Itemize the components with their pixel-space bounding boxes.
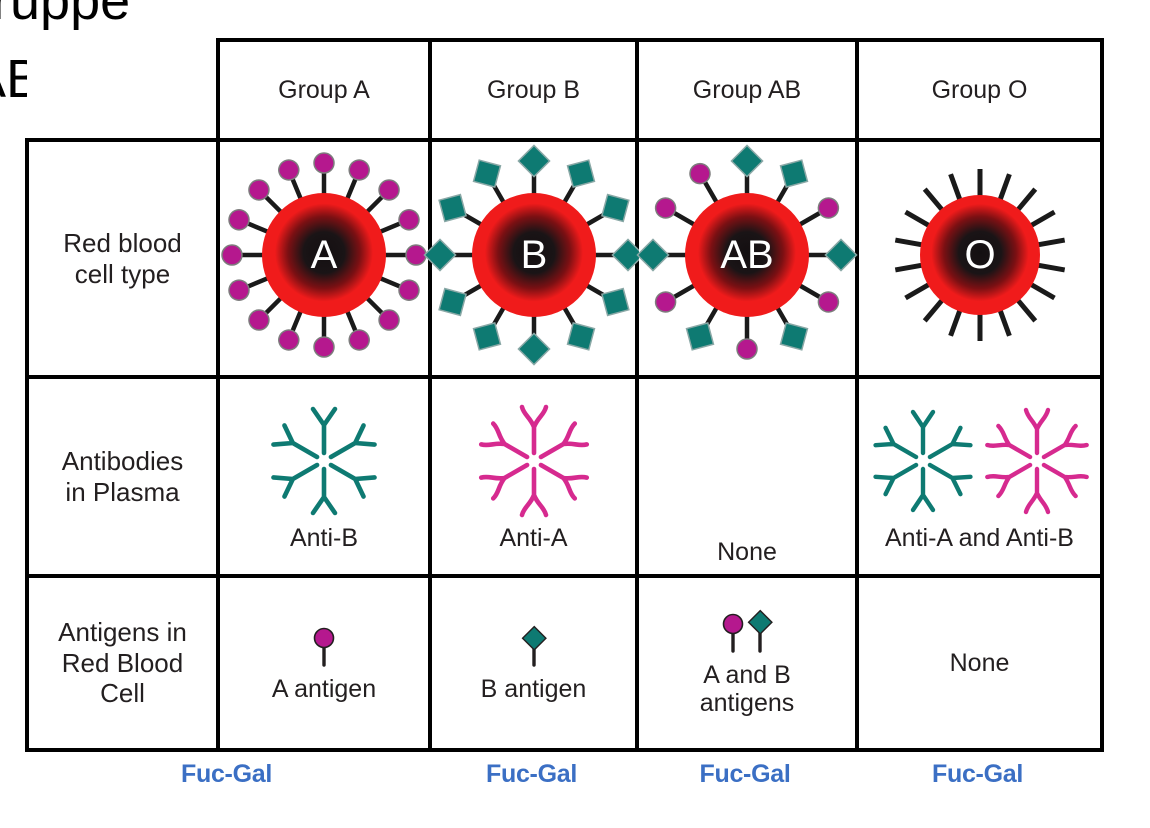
cell-letter-o: O: [964, 233, 995, 277]
red-blood-cell-o-icon: O: [885, 151, 1075, 367]
row-label-antibodies-in-plasma: Antibodies in Plasma: [27, 377, 218, 576]
column-header-group-o: Group O: [857, 40, 1102, 140]
row-label-line-2: in Plasma: [29, 477, 216, 508]
cell-letter-b: B: [520, 233, 547, 277]
cell-rbc-group-ab: AB: [637, 140, 857, 377]
column-header-group-b: Group B: [430, 40, 637, 140]
row-label-line-2: Red Blood: [29, 648, 216, 679]
antigen-caption-group-ab-line2: antigens: [700, 689, 795, 717]
column-header-group-ab: Group AB: [637, 40, 857, 140]
blood-group-table: Group A Group B Group AB Group O Red blo…: [25, 38, 1104, 752]
antibody-caption-group-b: Anti-A: [499, 524, 567, 552]
fucgal-cell-group-o: Fuc-Gal: [855, 742, 1100, 812]
column-header-group-a: Group A: [218, 40, 430, 140]
table-header-row: Group A Group B Group AB Group O: [27, 40, 1102, 140]
cell-rbc-group-o: O: [857, 140, 1102, 377]
cell-antibodies-group-o: Anti-A and Anti-B: [857, 377, 1102, 576]
antibody-cluster-magenta-icon: [987, 410, 1086, 512]
cell-antigens-group-ab: A and B antigens: [637, 576, 857, 750]
red-blood-cell-a-icon: A: [224, 151, 424, 367]
cell-rbc-group-a: A: [218, 140, 430, 377]
cell-letter-a: A: [311, 233, 338, 277]
fucgal-cell-group-b: Fuc-Gal: [428, 742, 635, 812]
page-title-cropped: gruppe: [0, 0, 130, 32]
table-row-antigens-in-red-blood-cell: Antigens in Red Blood Cell A antigen: [27, 576, 1102, 750]
antibody-cluster-magenta-icon: [469, 402, 599, 520]
fucgal-label-group-o: Fuc-Gal: [932, 760, 1023, 789]
table-corner-cell: [27, 40, 218, 140]
fucgal-label-group-b: Fuc-Gal: [486, 760, 577, 789]
antibody-cluster-pair-icon: [865, 402, 1095, 520]
antibody-caption-group-o: Anti-A and Anti-B: [885, 524, 1074, 552]
antibody-caption-group-a: Anti-B: [290, 524, 358, 552]
table-row-red-blood-cell-type: Red blood cell type: [27, 140, 1102, 377]
cell-antibodies-group-b: Anti-A: [430, 377, 637, 576]
antigen-b-diamond-icon: [509, 623, 559, 673]
row-label-red-blood-cell-type: Red blood cell type: [27, 140, 218, 377]
antigen-a-circle-icon: [299, 623, 349, 673]
red-blood-cell-ab-icon: AB: [642, 151, 852, 367]
cell-letter-ab: AB: [720, 233, 773, 277]
row-label-line-1: Antibodies: [29, 446, 216, 477]
cell-antigens-group-o: None: [857, 576, 1102, 750]
antigen-caption-group-a: A antigen: [272, 675, 376, 703]
fucgal-cell-group-a: Fuc-Gal: [25, 742, 428, 812]
fucgal-label-group-ab: Fuc-Gal: [700, 760, 791, 789]
cell-antigens-group-a: A antigen: [218, 576, 430, 750]
row-label-antigens-in-red-blood-cell: Antigens in Red Blood Cell: [27, 576, 218, 750]
antibody-caption-group-ab: None: [717, 538, 777, 567]
antigen-caption-group-ab-line1: A and B: [703, 661, 791, 689]
antigen-ab-pair-icon: [707, 609, 787, 659]
cell-antigens-group-b: B antigen: [430, 576, 637, 750]
table-row-antibodies-in-plasma: Antibodies in Plasma: [27, 377, 1102, 576]
cell-antibodies-group-a: Anti-B: [218, 377, 430, 576]
antigen-caption-group-o: None: [950, 649, 1010, 678]
row-label-line-2: cell type: [29, 259, 216, 290]
red-blood-cell-b-icon: B: [434, 151, 634, 367]
fucgal-label-group-a: Fuc-Gal: [181, 760, 272, 789]
antigen-b-diamond-icon: [749, 611, 772, 651]
fucgal-cell-group-ab: Fuc-Gal: [635, 742, 855, 812]
row-label-line-1: Antigens in: [29, 617, 216, 648]
row-label-line-3: Cell: [29, 678, 216, 709]
antibody-cluster-teal-icon: [875, 412, 970, 510]
cell-antibodies-group-ab: None: [637, 377, 857, 576]
antigen-caption-group-b: B antigen: [481, 675, 587, 703]
cell-rbc-group-b: B: [430, 140, 637, 377]
row-label-line-1: Red blood: [29, 228, 216, 259]
antibody-cluster-teal-icon: [259, 402, 389, 520]
fucgal-footer-row: Fuc-Gal Fuc-Gal Fuc-Gal Fuc-Gal: [25, 742, 1100, 812]
antigen-a-circle-icon: [724, 615, 743, 652]
